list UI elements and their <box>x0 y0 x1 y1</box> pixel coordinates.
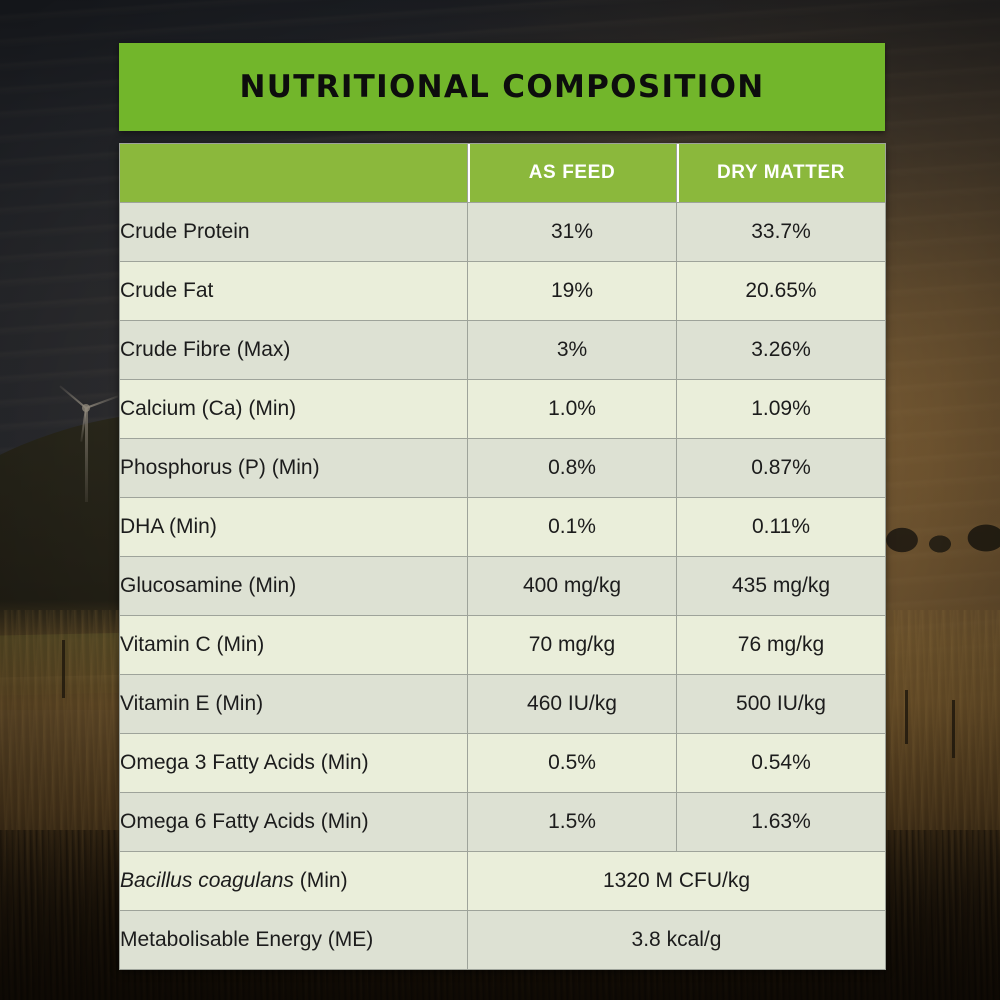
table-body: Crude Protein 31% 33.7% Crude Fat 19% 20… <box>120 203 886 970</box>
table-row: Vitamin C (Min) 70 mg/kg 76 mg/kg <box>120 616 886 675</box>
nutrition-table: AS FEED DRY MATTER Crude Protein 31% 33.… <box>119 143 886 970</box>
dry-matter-value: 20.65% <box>677 262 886 321</box>
table-row: Crude Fat 19% 20.65% <box>120 262 886 321</box>
as-feed-value: 1.0% <box>468 380 677 439</box>
dry-matter-value: 1.09% <box>677 380 886 439</box>
nutrient-name: Vitamin C (Min) <box>120 616 468 675</box>
as-feed-value: 0.5% <box>468 734 677 793</box>
nutrient-name: DHA (Min) <box>120 498 468 557</box>
dry-matter-value: 0.11% <box>677 498 886 557</box>
table-header: AS FEED DRY MATTER <box>120 144 886 203</box>
dry-matter-value: 0.87% <box>677 439 886 498</box>
as-feed-value: 400 mg/kg <box>468 557 677 616</box>
table-row: Metabolisable Energy (ME) 3.8 kcal/g <box>120 911 886 970</box>
table-row: Crude Fibre (Max) 3% 3.26% <box>120 321 886 380</box>
as-feed-value: 460 IU/kg <box>468 675 677 734</box>
as-feed-value: 0.8% <box>468 439 677 498</box>
as-feed-value: 19% <box>468 262 677 321</box>
dry-matter-value: 3.26% <box>677 321 886 380</box>
nutrient-name: Bacillus coagulans (Min) <box>120 852 468 911</box>
merged-value: 1320 M CFU/kg <box>468 852 886 911</box>
dry-matter-value: 1.63% <box>677 793 886 852</box>
nutrient-name: Omega 6 Fatty Acids (Min) <box>120 793 468 852</box>
dry-matter-value: 33.7% <box>677 203 886 262</box>
merged-value: 3.8 kcal/g <box>468 911 886 970</box>
nutrient-name: Calcium (Ca) (Min) <box>120 380 468 439</box>
table-row: Glucosamine (Min) 400 mg/kg 435 mg/kg <box>120 557 886 616</box>
nutrient-name: Crude Fat <box>120 262 468 321</box>
nutrient-name: Crude Protein <box>120 203 468 262</box>
title-banner: NUTRITIONAL COMPOSITION <box>119 43 885 131</box>
dry-matter-value: 0.54% <box>677 734 886 793</box>
as-feed-value: 3% <box>468 321 677 380</box>
header-cell-nutrient <box>120 144 468 203</box>
nutrient-name: Metabolisable Energy (ME) <box>120 911 468 970</box>
header-cell-as-feed: AS FEED <box>468 144 677 203</box>
nutrient-name: Glucosamine (Min) <box>120 557 468 616</box>
table-row: Phosphorus (P) (Min) 0.8% 0.87% <box>120 439 886 498</box>
header-cell-dry-matter: DRY MATTER <box>677 144 886 203</box>
table-row: Crude Protein 31% 33.7% <box>120 203 886 262</box>
dry-matter-value: 435 mg/kg <box>677 557 886 616</box>
table-row: Vitamin E (Min) 460 IU/kg 500 IU/kg <box>120 675 886 734</box>
banner-table-gap <box>119 131 885 143</box>
table-row: Bacillus coagulans (Min) 1320 M CFU/kg <box>120 852 886 911</box>
as-feed-value: 31% <box>468 203 677 262</box>
nutrient-name: Crude Fibre (Max) <box>120 321 468 380</box>
as-feed-value: 1.5% <box>468 793 677 852</box>
nutrient-name: Phosphorus (P) (Min) <box>120 439 468 498</box>
nutritional-composition-card: NUTRITIONAL COMPOSITION AS FEED DRY MATT… <box>119 43 885 970</box>
table-row: DHA (Min) 0.1% 0.11% <box>120 498 886 557</box>
page-title: NUTRITIONAL COMPOSITION <box>240 69 765 105</box>
as-feed-value: 70 mg/kg <box>468 616 677 675</box>
table-row: Omega 3 Fatty Acids (Min) 0.5% 0.54% <box>120 734 886 793</box>
table-header-row: AS FEED DRY MATTER <box>120 144 886 203</box>
table-row: Calcium (Ca) (Min) 1.0% 1.09% <box>120 380 886 439</box>
as-feed-value: 0.1% <box>468 498 677 557</box>
nutrient-name: Omega 3 Fatty Acids (Min) <box>120 734 468 793</box>
dry-matter-value: 500 IU/kg <box>677 675 886 734</box>
species-name-suffix: (Min) <box>294 869 348 892</box>
table-row: Omega 6 Fatty Acids (Min) 1.5% 1.63% <box>120 793 886 852</box>
species-name-italic: Bacillus coagulans <box>120 869 294 892</box>
nutrition-panel-scene: NUTRITIONAL COMPOSITION AS FEED DRY MATT… <box>0 0 1000 1000</box>
dry-matter-value: 76 mg/kg <box>677 616 886 675</box>
nutrient-name: Vitamin E (Min) <box>120 675 468 734</box>
